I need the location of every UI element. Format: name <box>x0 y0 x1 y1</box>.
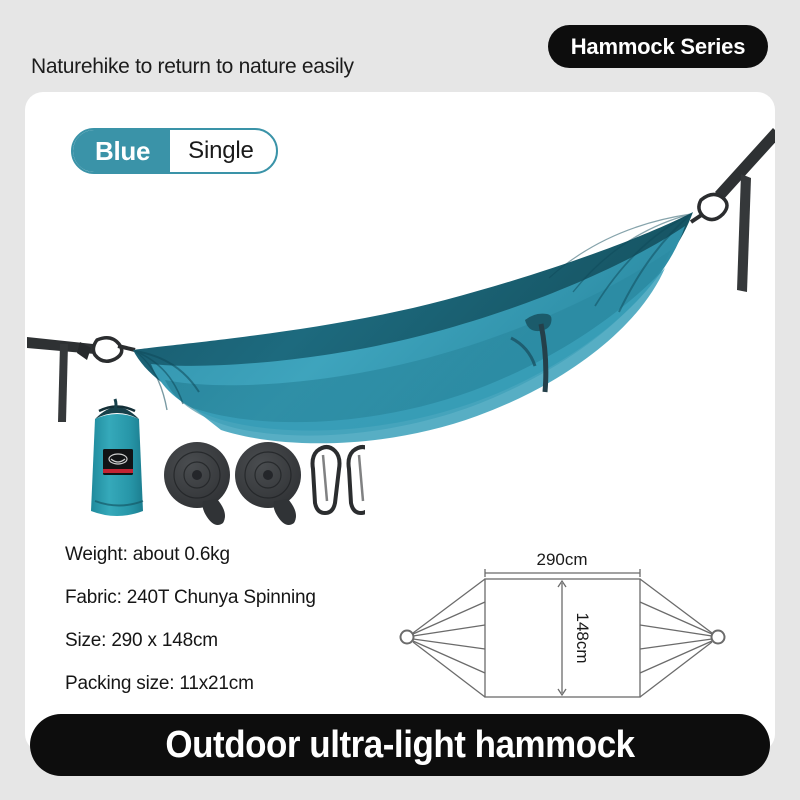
stuff-sack <box>91 399 143 516</box>
bottom-banner: Outdoor ultra-light hammock <box>30 714 770 776</box>
accessories-illustration <box>65 397 365 532</box>
series-badge: Hammock Series <box>548 25 768 68</box>
variant-color-label: Blue <box>95 136 150 167</box>
spec-item-size: Size: 290 x 148cm <box>65 630 425 652</box>
dimension-diagram: 290cm 148cm <box>395 547 745 707</box>
spec-item-weight: Weight: about 0.6kg <box>65 544 425 566</box>
bottom-banner-label: Outdoor ultra-light hammock <box>165 724 634 767</box>
diagram-width-label: 290cm <box>536 550 587 569</box>
tree-strap-coil <box>235 442 301 525</box>
variant-size-label: Single <box>188 137 254 165</box>
diagram-height-label: 148cm <box>573 612 592 663</box>
variant-color-chip[interactable]: Blue <box>73 130 170 172</box>
spec-list: Weight: about 0.6kg Fabric: 240T Chunya … <box>65 544 425 716</box>
carabiner <box>349 447 366 513</box>
product-card: Blue Single <box>25 92 775 752</box>
product-image-page: Hammock Series Naturehike to return to n… <box>0 0 800 800</box>
carabiner <box>313 447 340 513</box>
spec-item-fabric: Fabric: 240T Chunya Spinning <box>65 587 425 609</box>
variant-size-chip[interactable]: Single <box>170 130 276 172</box>
right-suspension-strap <box>691 128 775 292</box>
spec-item-packing-size: Packing size: 11x21cm <box>65 673 425 695</box>
tagline: Naturehike to return to nature easily <box>31 55 354 79</box>
series-badge-label: Hammock Series <box>571 34 746 60</box>
variant-pill[interactable]: Blue Single <box>71 128 278 174</box>
tree-strap-coil <box>164 442 230 525</box>
